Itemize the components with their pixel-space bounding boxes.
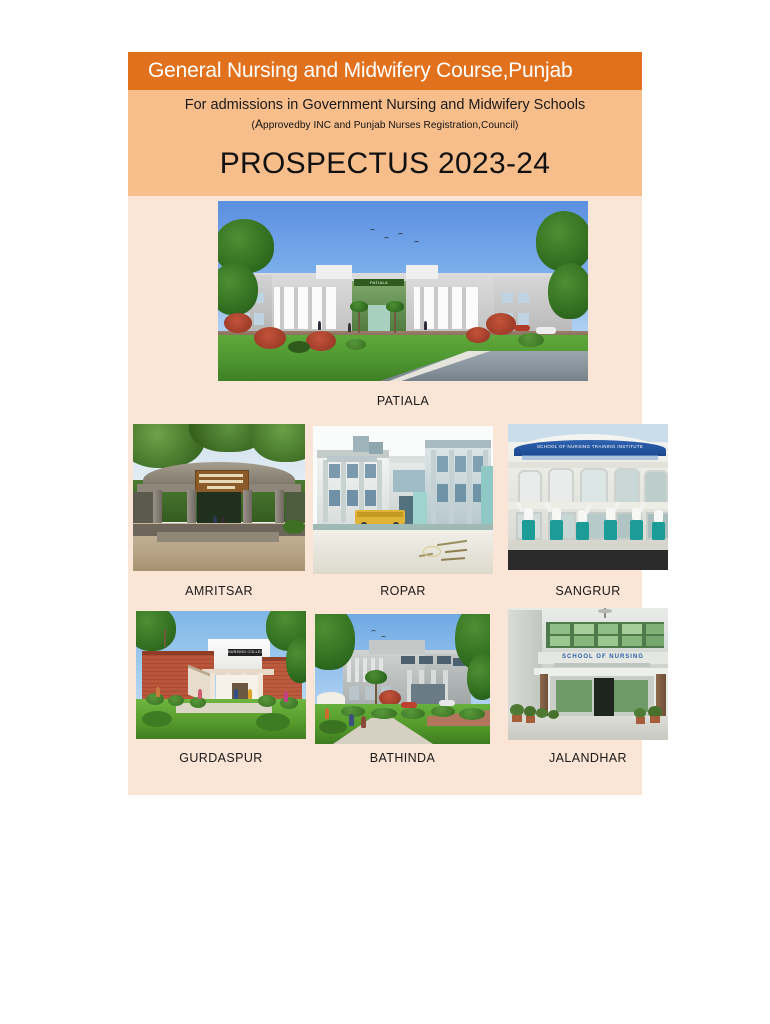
gurdaspur-sign: NURSING COLLEGE <box>228 649 262 656</box>
label-gurdaspur: GURDASPUR <box>136 751 306 765</box>
sangrur-scene: SCHOOL OF NURSING TRAINING INSTITUTE <box>508 424 668 570</box>
prospectus-heading: PROSPECTUS 2023-24 <box>128 131 642 197</box>
approval-note: (Approvedby INC and Punjab Nurses Regist… <box>128 113 642 131</box>
photo-jalandhar: SCHOOL OF NURSING <box>508 608 668 740</box>
title-bar: General Nursing and Midwifery Course,Pun… <box>128 52 642 90</box>
label-bathinda: BATHINDA <box>315 751 490 765</box>
prospectus-page: General Nursing and Midwifery Course,Pun… <box>0 0 770 1024</box>
ropar-scene <box>313 426 493 574</box>
label-amritsar: AMRITSAR <box>133 584 305 598</box>
header-block: General Nursing and Midwifery Course,Pun… <box>128 52 642 197</box>
bathinda-scene <box>315 614 490 744</box>
building-sign: PATIALA <box>354 279 404 286</box>
label-jalandhar: JALANDHAR <box>508 751 668 765</box>
approval-cap-letter: A <box>255 117 263 131</box>
patiala-scene: PATIALA <box>218 201 588 381</box>
photo-sangrur: SCHOOL OF NURSING TRAINING INSTITUTE <box>508 424 668 570</box>
sangrur-banner-text: SCHOOL OF NURSING TRAINING INSTITUTE <box>518 443 662 451</box>
jalandhar-scene: SCHOOL OF NURSING <box>508 608 668 740</box>
approval-text: pprovedby INC and Punjab Nurses Registra… <box>263 120 518 131</box>
label-ropar: ROPAR <box>313 584 493 598</box>
jalandhar-sign: SCHOOL OF NURSING <box>542 653 664 662</box>
label-patiala: PATIALA <box>218 394 588 408</box>
photo-ropar <box>313 426 493 574</box>
photo-bathinda <box>315 614 490 744</box>
label-sangrur: SANGRUR <box>508 584 668 598</box>
amritsar-scene <box>133 424 305 571</box>
gurdaspur-scene: NURSING COLLEGE <box>136 611 306 739</box>
photo-patiala: PATIALA <box>218 201 588 381</box>
gallery-panel: PATIALA <box>128 196 642 795</box>
photo-gurdaspur: NURSING COLLEGE <box>136 611 306 739</box>
photo-amritsar <box>133 424 305 571</box>
page-title: General Nursing and Midwifery Course,Pun… <box>148 59 572 83</box>
header-subtitle: For admissions in Government Nursing and… <box>128 90 642 113</box>
